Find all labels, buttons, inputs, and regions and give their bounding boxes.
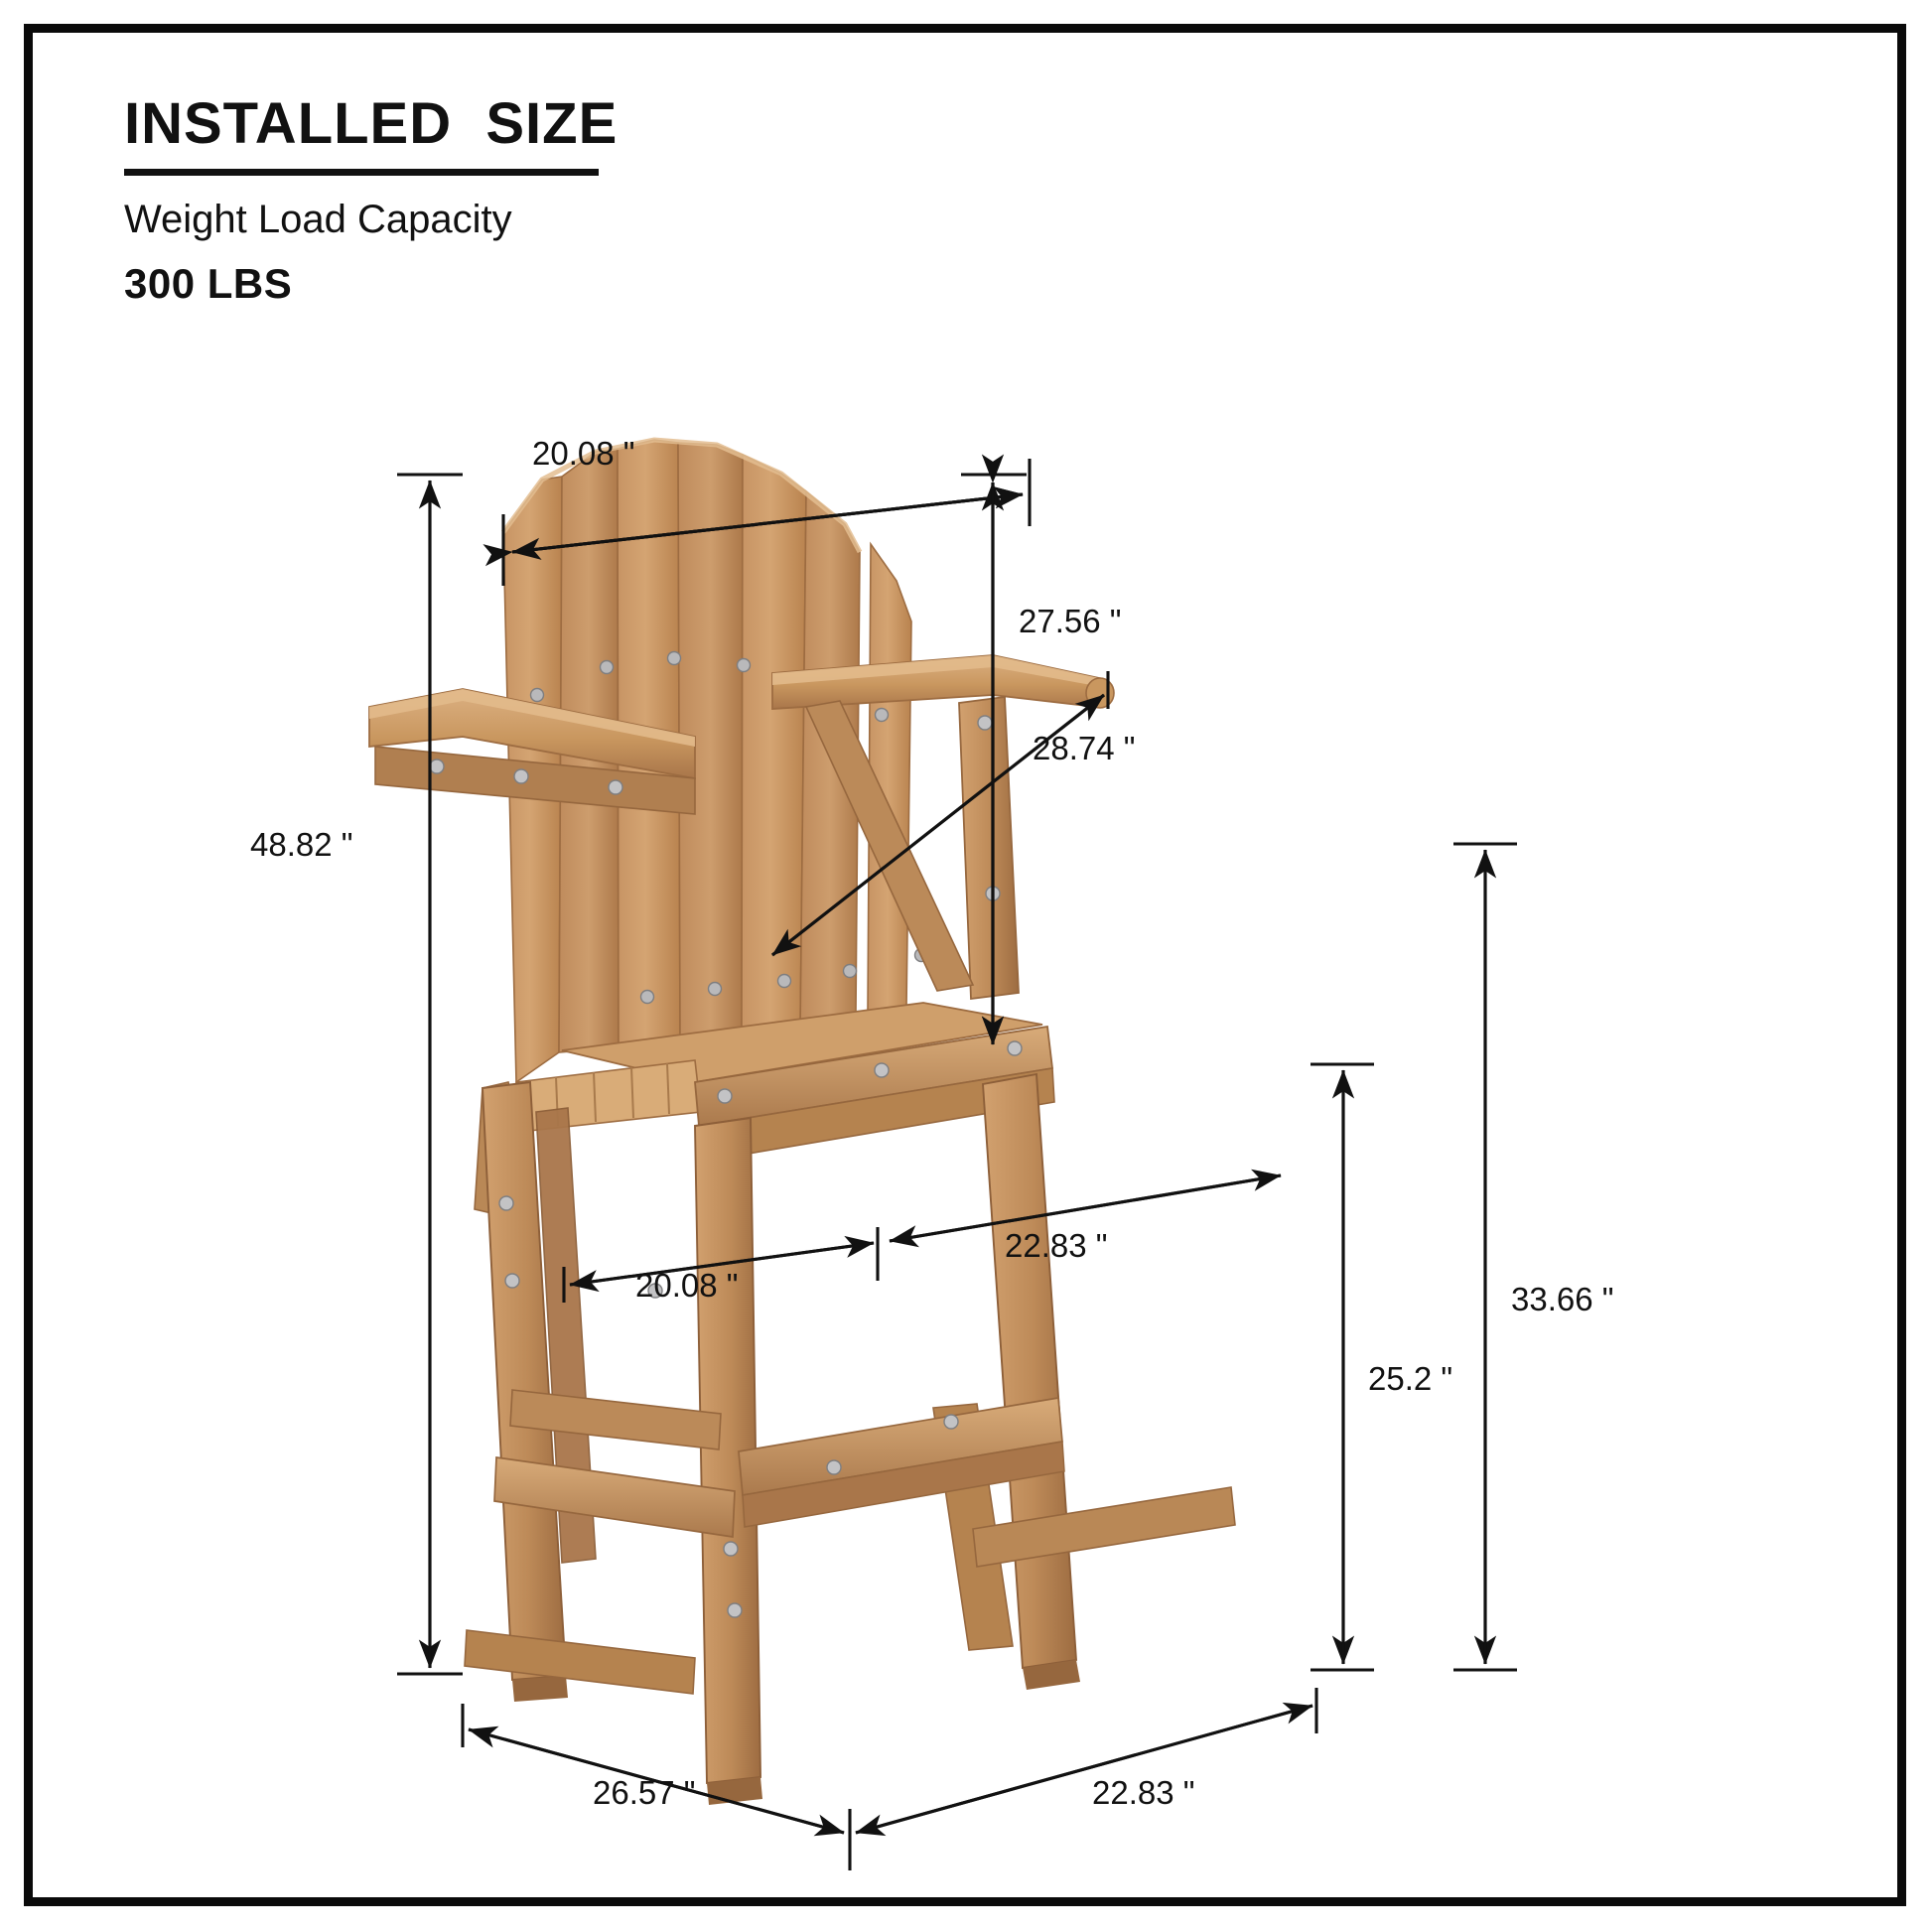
dimline-base-depth: [463, 1704, 844, 1833]
dimline-arm-height: [1453, 844, 1517, 1670]
dimline-base-width: [850, 1688, 1316, 1870]
dim-label-seat-depth: 22.83 ": [1005, 1227, 1107, 1265]
dim-label-seat-height: 25.2 ": [1368, 1360, 1452, 1398]
dim-label-seat-width: 20.08 ": [635, 1267, 738, 1305]
chair-illustration: [0, 0, 1932, 1932]
dim-label-base-width: 22.83 ": [1092, 1774, 1194, 1812]
dim-label-back-height: 27.56 ": [1019, 603, 1121, 640]
dim-label-overall-height: 48.82 ": [250, 826, 352, 864]
dimline-overall-height: [397, 475, 463, 1674]
product-diagram: [0, 0, 1932, 1932]
dim-label-base-depth: 26.57 ": [593, 1774, 695, 1812]
dim-label-arm-height: 33.66 ": [1511, 1281, 1613, 1318]
dim-label-back-width-top: 20.08 ": [532, 435, 634, 473]
dim-label-arm-depth: 28.74 ": [1033, 730, 1135, 767]
dimline-seat-height: [1311, 1064, 1374, 1670]
